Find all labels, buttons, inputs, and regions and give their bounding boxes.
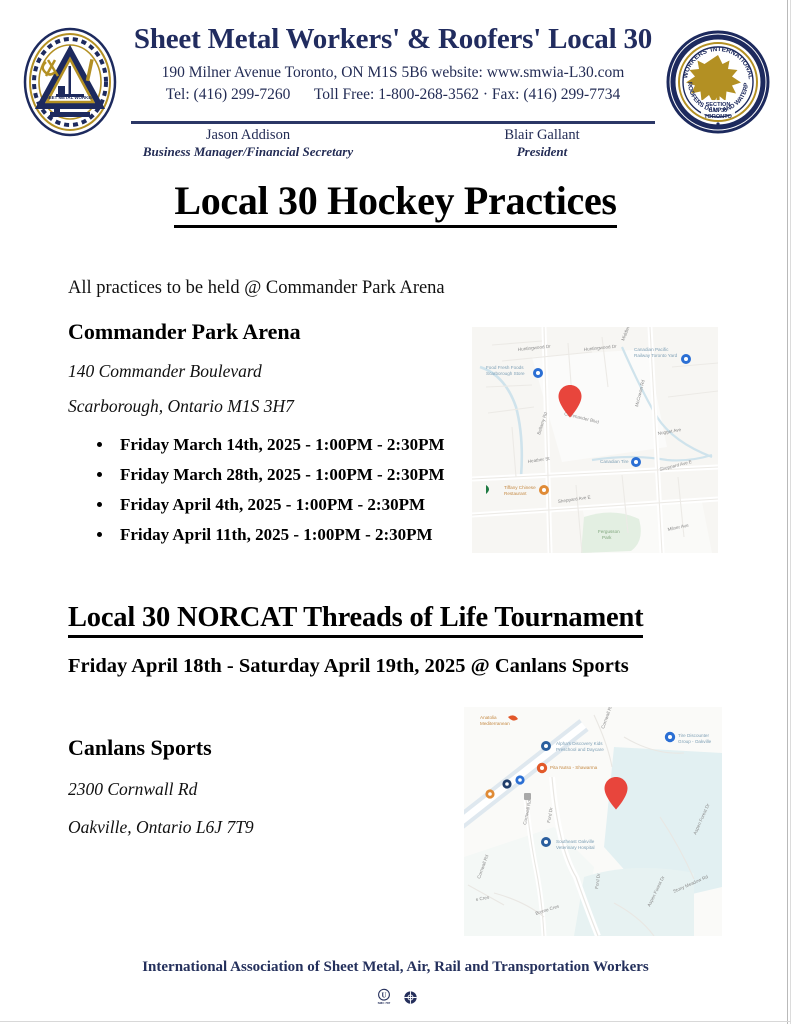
canlans-sports-map[interactable]: Cornwall Rd Cornwall Rd Ford Dr Ford Dr …	[464, 707, 722, 936]
list-item: Friday March 28th, 2025 - 1:00PM - 2:30P…	[114, 466, 445, 483]
tournament-title-text: Local 30 NORCAT Threads of Life Tourname…	[68, 602, 643, 638]
letterhead: SHEET METAL WORKERS Sheet Metal Workers'…	[0, 18, 791, 168]
venue-2-name: Canlans Sports	[68, 735, 212, 761]
svg-text:Pita Nutso - Shawarma: Pita Nutso - Shawarma	[550, 765, 598, 770]
list-item: Friday April 11th, 2025 - 1:00PM - 2:30P…	[114, 526, 445, 543]
sheet-metal-workers-seal-icon: SHEET METAL WORKERS	[22, 26, 118, 138]
allied-printing-bug-icon	[403, 990, 418, 1010]
intro-text: All practices to be held @ Commander Par…	[68, 278, 445, 299]
venue-1-name: Commander Park Arena	[68, 319, 301, 345]
officer-role: Business Manager/Financial Secretary	[128, 144, 368, 161]
svg-text:Mediterranean: Mediterranean	[480, 721, 510, 726]
svg-text:Alpha's Discovery Kids: Alpha's Discovery Kids	[556, 741, 603, 746]
letterhead-text: Sheet Metal Workers' & Roofers' Local 30…	[128, 24, 658, 106]
svg-text:Food Fresh Foods: Food Fresh Foods	[486, 365, 524, 370]
document-page: SHEET METAL WORKERS Sheet Metal Workers'…	[0, 0, 791, 1024]
header-divider-rule	[131, 121, 655, 124]
tournament-dates: Friday April 18th - Saturday April 19th,…	[68, 655, 629, 678]
officer-name: Jason Addison	[128, 126, 368, 144]
svg-text:Restaurant: Restaurant	[504, 491, 527, 496]
svg-text:Tiffany Chinese: Tiffany Chinese	[504, 485, 536, 490]
svg-text:Scarborough Store: Scarborough Store	[486, 371, 525, 376]
venue-1-street: 140 Commander Boulevard	[68, 361, 262, 382]
venue-2-street: 2300 Cornwall Rd	[68, 779, 197, 800]
phone-toll-free: Toll Free: 1-800-268-3562	[314, 86, 479, 103]
organization-title: Sheet Metal Workers' & Roofers' Local 30	[128, 24, 658, 55]
list-item: Friday March 14th, 2025 - 1:00PM - 2:30P…	[114, 436, 445, 453]
separator-dot: ·	[483, 86, 488, 103]
organization-phones: Tel: (416) 299-7260 Toll Free: 1-800-268…	[128, 84, 658, 106]
svg-text:U: U	[381, 992, 386, 999]
svg-text:Tire Discounter: Tire Discounter	[678, 733, 709, 738]
officers-row: Jason Addison Business Manager/Financial…	[128, 126, 662, 161]
svg-text:Veterinary Hospital: Veterinary Hospital	[556, 845, 595, 850]
svg-text:Fergusson: Fergusson	[598, 529, 620, 534]
list-item: Friday April 4th, 2025 - 1:00PM - 2:30PM	[114, 496, 445, 513]
page-title-text: Local 30 Hockey Practices	[174, 178, 616, 228]
phone-fax: Fax: (416) 299-7734	[492, 86, 620, 103]
officer-name: Blair Gallant	[422, 126, 662, 144]
tournament-title: Local 30 NORCAT Threads of Life Tourname…	[68, 602, 643, 634]
svg-text:Canadian Pacific: Canadian Pacific	[634, 347, 669, 352]
svg-text:Railway Toronto Yard: Railway Toronto Yard	[634, 353, 678, 358]
officer-role: President	[422, 144, 662, 161]
footer-union-bugs: U SMC 787	[0, 988, 791, 1011]
svg-text:Anatolia: Anatolia	[480, 715, 497, 720]
svg-text:Canadian Tire: Canadian Tire	[600, 459, 629, 464]
venue-2-city: Oakville, Ontario L6J 7T9	[68, 817, 254, 838]
roofers-damp-waterproofers-seal-icon: SECTION L.U. 30 TORONTO SHEET METAL WORK…	[666, 28, 770, 136]
svg-text:SMC 787: SMC 787	[377, 1001, 390, 1005]
svg-text:Group - Oakville: Group - Oakville	[678, 739, 712, 744]
organization-address: 190 Milner Avenue Toronto, ON M1S 5B6 we…	[128, 62, 658, 84]
svg-text:Southeast Oakville: Southeast Oakville	[556, 839, 595, 844]
footer-association-name: International Association of Sheet Metal…	[0, 959, 791, 976]
venue-1-city: Scarborough, Ontario M1S 3H7	[68, 396, 294, 417]
scan-edge-bottom	[0, 1021, 791, 1022]
officer-business-manager: Jason Addison Business Manager/Financial…	[128, 126, 368, 161]
svg-text:TORONTO: TORONTO	[704, 114, 732, 120]
svg-text:Preschool and Daycare: Preschool and Daycare	[556, 747, 604, 752]
page-title: Local 30 Hockey Practices	[0, 177, 791, 224]
svg-text:SHEET METAL WORKERS: SHEET METAL WORKERS	[43, 95, 98, 100]
officer-president: Blair Gallant President	[422, 126, 662, 161]
svg-text:Park: Park	[602, 535, 612, 540]
union-label-bug-icon: U SMC 787	[374, 988, 394, 1011]
phone-tel: Tel: (416) 299-7260	[166, 86, 291, 103]
practice-schedule-list: Friday March 14th, 2025 - 1:00PM - 2:30P…	[88, 436, 445, 556]
commander-park-arena-map[interactable]: Huntingwood Dr Huntingwood Dr Middlefiel…	[472, 327, 718, 553]
